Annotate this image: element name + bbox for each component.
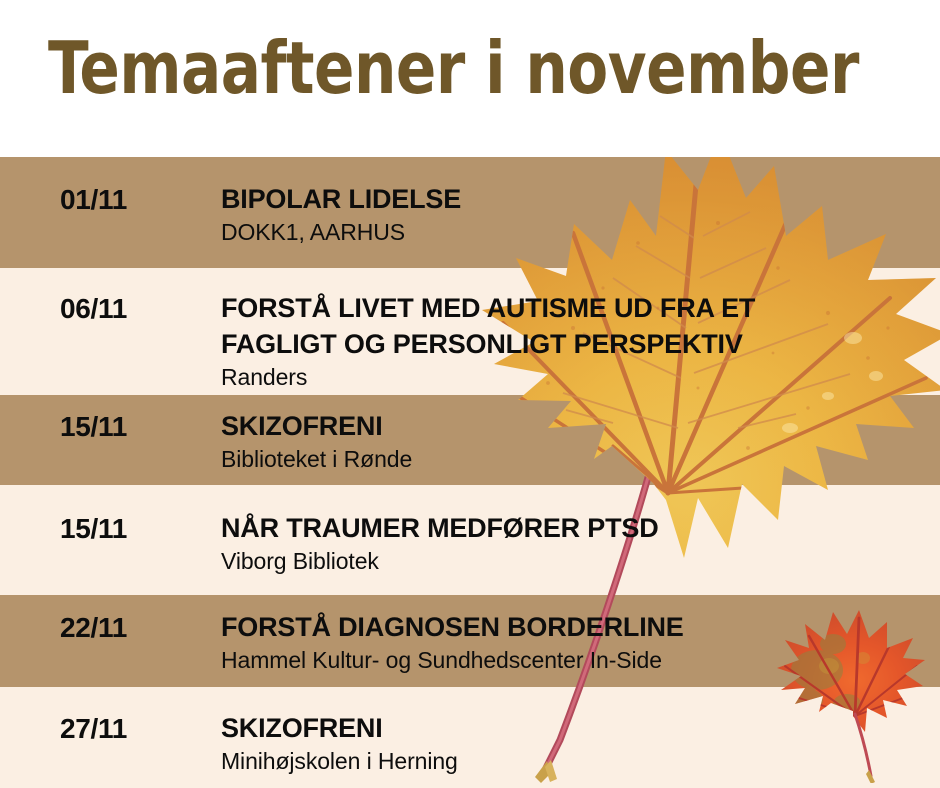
page-title: Temaaftener i november bbox=[48, 28, 859, 108]
event-title: FORSTÅ LIVET MED AUTISME UD FRA ET FAGLI… bbox=[221, 290, 755, 362]
event-place: Viborg Bibliotek bbox=[221, 548, 379, 575]
event-date: 06/11 bbox=[60, 293, 127, 325]
event-place: DOKK1, AARHUS bbox=[221, 219, 405, 246]
event-row-bands bbox=[0, 157, 940, 788]
event-date: 15/11 bbox=[60, 411, 127, 443]
event-date: 22/11 bbox=[60, 612, 127, 644]
event-place: Hammel Kultur- og Sundhedscenter In-Side bbox=[221, 647, 662, 674]
poster-header: Temaaftener i november bbox=[0, 0, 940, 157]
event-title: SKIZOFRENI bbox=[221, 710, 383, 746]
event-date: 01/11 bbox=[60, 184, 127, 216]
event-place: Randers bbox=[221, 364, 307, 391]
event-place: Minihøjskolen i Herning bbox=[221, 748, 458, 775]
event-place: Biblioteket i Rønde bbox=[221, 446, 412, 473]
row-band-3 bbox=[0, 395, 940, 485]
row-band-6 bbox=[0, 687, 940, 788]
poster-canvas: Temaaftener i november 01/11 BIPOLAR LID… bbox=[0, 0, 940, 788]
event-title: SKIZOFRENI bbox=[221, 408, 383, 444]
event-title: NÅR TRAUMER MEDFØRER PTSD bbox=[221, 510, 659, 546]
event-title: BIPOLAR LIDELSE bbox=[221, 181, 461, 217]
event-date: 15/11 bbox=[60, 513, 127, 545]
row-band-1 bbox=[0, 157, 940, 268]
event-title: FORSTÅ DIAGNOSEN BORDERLINE bbox=[221, 609, 684, 645]
event-date: 27/11 bbox=[60, 713, 127, 745]
